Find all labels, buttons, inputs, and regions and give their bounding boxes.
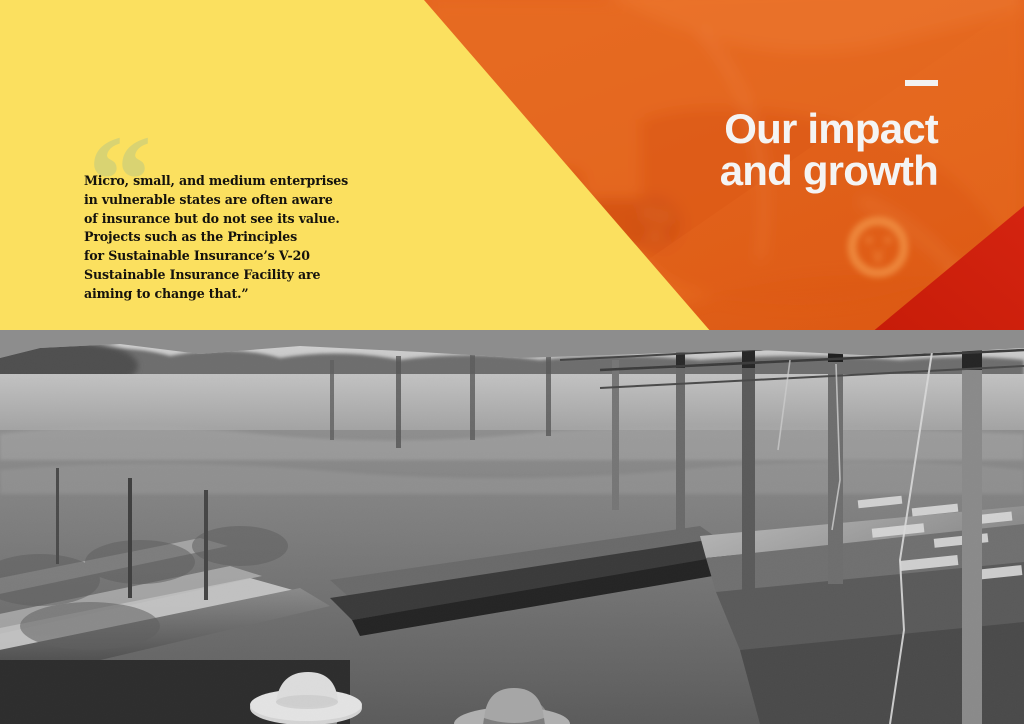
pull-quote-text: Micro, small, and medium enterprises in …	[84, 172, 414, 304]
quote-line: Projects such as the Principles	[84, 228, 414, 247]
page-title: Our impact and growth	[720, 108, 938, 192]
slide-canvas: “ Micro, small, and medium enterprises i…	[0, 0, 1024, 724]
quote-line: for Sustainable Insurance’s V-20	[84, 247, 414, 266]
quote-line: of insurance but do not see its value.	[84, 210, 414, 229]
quote-line: Micro, small, and medium enterprises	[84, 172, 414, 191]
section-heading-block: Our impact and growth	[720, 80, 938, 192]
page-title-line-1: Our impact	[720, 108, 938, 150]
heading-rule-divider	[905, 80, 938, 86]
quote-line: aiming to change that.”	[84, 285, 414, 304]
farm-photograph-illustration	[0, 330, 1024, 724]
quote-line: Sustainable Insurance Facility are	[84, 266, 414, 285]
quote-line: in vulnerable states are often aware	[84, 191, 414, 210]
page-title-line-2: and growth	[720, 150, 938, 192]
farm-photograph	[0, 330, 1024, 724]
